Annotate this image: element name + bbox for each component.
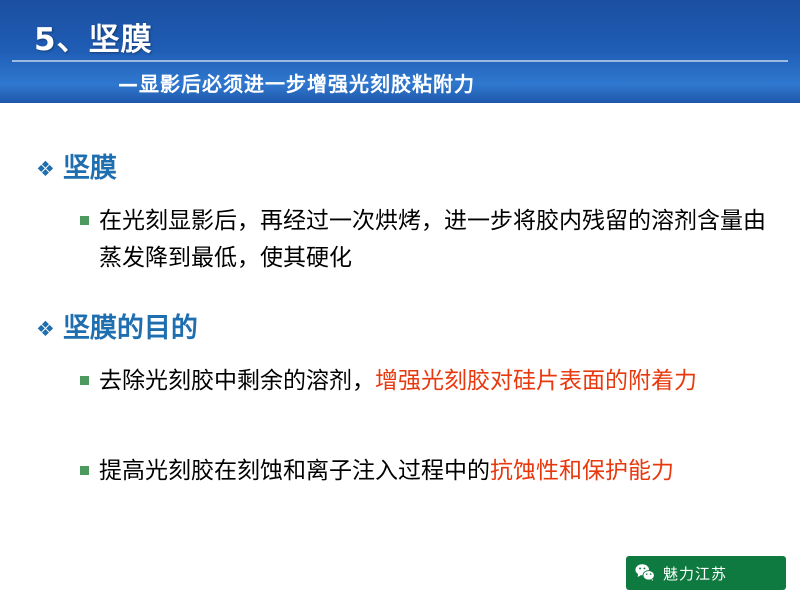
list-item-text-highlight: 抗蚀性和保护能力 bbox=[490, 458, 674, 484]
list-item: 提高光刻胶在刻蚀和离子注入过程中的抗蚀性和保护能力 bbox=[80, 453, 770, 490]
page-title: 5、坚膜 bbox=[34, 14, 153, 59]
slide: 5、坚膜 —显影后必须进一步增强光刻胶粘附力 ❖ 坚膜 在光刻显影后，再经过一次… bbox=[0, 0, 800, 600]
header-divider-rule bbox=[12, 60, 788, 62]
slide-header-banner: 5、坚膜 —显影后必须进一步增强光刻胶粘附力 bbox=[0, 0, 800, 108]
diamond-bullet-icon: ❖ bbox=[36, 159, 55, 180]
list-item-text-part: 去除光刻胶中剩余的溶剂， bbox=[99, 368, 375, 394]
section-heading-2-label: 坚膜的目的 bbox=[63, 313, 198, 344]
page-subtitle: —显影后必须进一步增强光刻胶粘附力 bbox=[118, 68, 475, 97]
square-bullet-icon bbox=[80, 216, 89, 225]
section-heading-1-label: 坚膜 bbox=[63, 153, 117, 184]
list-item: 在光刻显影后，再经过一次烘烤，进一步将胶内残留的溶剂含量由蒸发降到最低，使其硬化 bbox=[80, 203, 770, 278]
section-heading-2: ❖ 坚膜的目的 bbox=[36, 313, 198, 344]
list-item-text-highlight: 增强光刻胶对硅片表面的附着力 bbox=[375, 368, 697, 394]
list-item-text: 在光刻显影后，再经过一次烘烤，进一步将胶内残留的溶剂含量由蒸发降到最低，使其硬化 bbox=[99, 203, 769, 278]
section-heading-1: ❖ 坚膜 bbox=[36, 153, 117, 184]
square-bullet-icon bbox=[80, 376, 89, 385]
wechat-icon bbox=[634, 562, 656, 584]
list-item-text-part: 在光刻显影后，再经过一次烘烤，进一步将胶内残留的溶剂含量由蒸发降到最低，使其硬化 bbox=[99, 208, 766, 271]
footer-logo-label: 魅力江苏 bbox=[663, 563, 727, 584]
square-bullet-icon bbox=[80, 466, 89, 475]
list-item-text-part: 提高光刻胶在刻蚀和离子注入过程中的 bbox=[99, 458, 490, 484]
list-item: 去除光刻胶中剩余的溶剂，增强光刻胶对硅片表面的附着力 bbox=[80, 363, 770, 400]
footer-watermark-logo: 魅力江苏 bbox=[626, 556, 786, 590]
list-item-text: 去除光刻胶中剩余的溶剂，增强光刻胶对硅片表面的附着力 bbox=[99, 363, 697, 400]
diamond-bullet-icon: ❖ bbox=[36, 319, 55, 340]
slide-body: ❖ 坚膜 在光刻显影后，再经过一次烘烤，进一步将胶内残留的溶剂含量由蒸发降到最低… bbox=[0, 108, 800, 600]
list-item-text: 提高光刻胶在刻蚀和离子注入过程中的抗蚀性和保护能力 bbox=[99, 453, 674, 490]
